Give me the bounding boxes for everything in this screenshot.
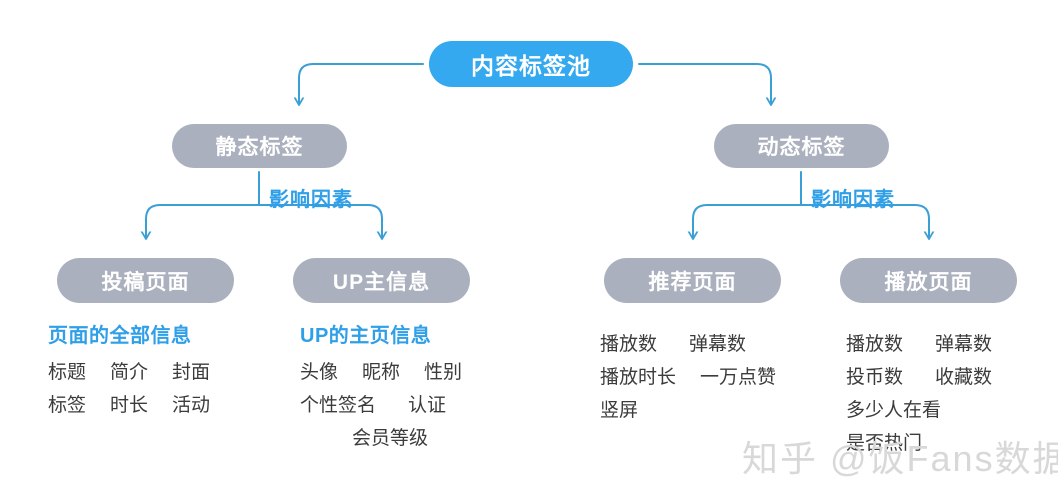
node-recommendation-page[interactable]: 推荐页面 [604,258,781,303]
detail-item: 播放时长 [600,367,676,388]
node-playback-page[interactable]: 播放页面 [840,258,1017,303]
detail-heading-submission: 页面的全部信息 [48,320,210,353]
detail-item: 封面 [172,362,210,383]
detail-row: 播放时长一万点赞 [600,361,776,394]
detail-row: 投币数收藏数 [846,361,992,394]
detail-row: 个性签名认证 [300,389,462,422]
detail-item: 弹幕数 [689,334,746,355]
detail-row: 标签时长活动 [48,389,210,422]
node-up-host-info[interactable]: UP主信息 [293,258,470,303]
edge-label-influencing-factors-right: 影响因素 [811,183,895,212]
detail-item: 弹幕数 [935,334,992,355]
detail-item: 投币数 [846,367,903,388]
edge-label-influencing-factors-left: 影响因素 [269,183,353,212]
node-submission-page[interactable]: 投稿页面 [57,258,234,303]
detail-row: 会员等级 [300,422,462,455]
node-static-tags[interactable]: 静态标签 [172,124,347,168]
edge-root-to-static [299,64,423,104]
detail-row: 标题简介封面 [48,356,210,389]
detail-item: 会员等级 [352,428,428,449]
watermark: 知乎 @饭Fans数据 [742,430,1058,482]
detail-item: 多少人在看 [846,400,941,421]
edge-dynamic-to-recommend [693,205,801,238]
detail-row: 播放数弹幕数 [846,328,992,361]
detail-row: 播放数弹幕数 [600,328,776,361]
detail-item: 个性签名 [300,395,376,416]
detail-item: 播放数 [846,334,903,355]
detail-item: 时长 [110,395,148,416]
detail-item: 竖屏 [600,400,638,421]
detail-list-up-host-info: UP的主页信息 头像昵称性别 个性签名认证 会员等级 [300,320,462,455]
detail-item: 性别 [424,362,462,383]
detail-list-submission-page: 页面的全部信息 标题简介封面 标签时长活动 [48,320,210,422]
node-dynamic-tags[interactable]: 动态标签 [714,124,889,168]
detail-item: 活动 [172,395,210,416]
detail-item: 标签 [48,395,86,416]
detail-item: 收藏数 [935,367,992,388]
detail-row: 竖屏 [600,394,776,427]
edge-root-to-dynamic [639,64,771,104]
detail-row: 头像昵称性别 [300,356,462,389]
detail-heading-up-host: UP的主页信息 [300,320,462,353]
diagram-canvas: 内容标签池 静态标签 动态标签 影响因素 影响因素 投稿页面 UP主信息 推荐页… [0,0,1058,502]
edge-static-to-submit [146,205,259,238]
detail-item: 头像 [300,362,338,383]
detail-item: 一万点赞 [700,367,776,388]
detail-item: 播放数 [600,334,657,355]
detail-item: 标题 [48,362,86,383]
node-content-tag-pool[interactable]: 内容标签池 [429,41,633,87]
detail-item: 简介 [110,362,148,383]
detail-list-recommendation-page: 播放数弹幕数 播放时长一万点赞 竖屏 [600,328,776,427]
detail-item: 昵称 [362,362,400,383]
detail-item: 认证 [408,395,446,416]
detail-row: 多少人在看 [846,394,992,427]
